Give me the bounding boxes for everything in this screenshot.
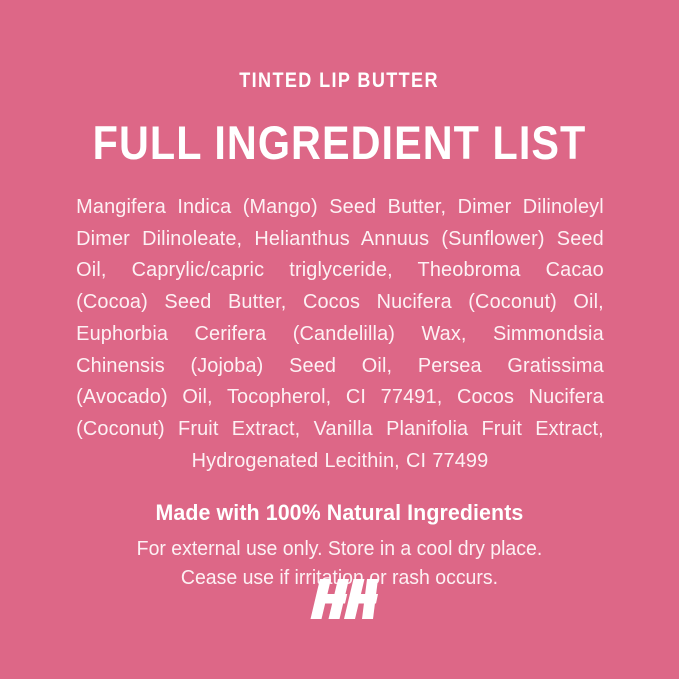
usage-directions-line-1: For external use only. Store in a cool d… [137, 534, 543, 563]
ingredient-list-text: Mangifera Indica (Mango) Seed Butter, Di… [76, 191, 604, 476]
ingredient-label-card: TINTED LIP BUTTER FULL INGREDIENT LIST M… [0, 0, 679, 679]
brand-logo: HH [0, 578, 679, 620]
product-name-eyebrow: TINTED LIP BUTTER [240, 68, 440, 94]
hh-monogram-icon [302, 578, 378, 620]
natural-ingredients-claim: Made with 100% Natural Ingredients [137, 498, 543, 528]
page-title: FULL INGREDIENT LIST [93, 117, 587, 169]
